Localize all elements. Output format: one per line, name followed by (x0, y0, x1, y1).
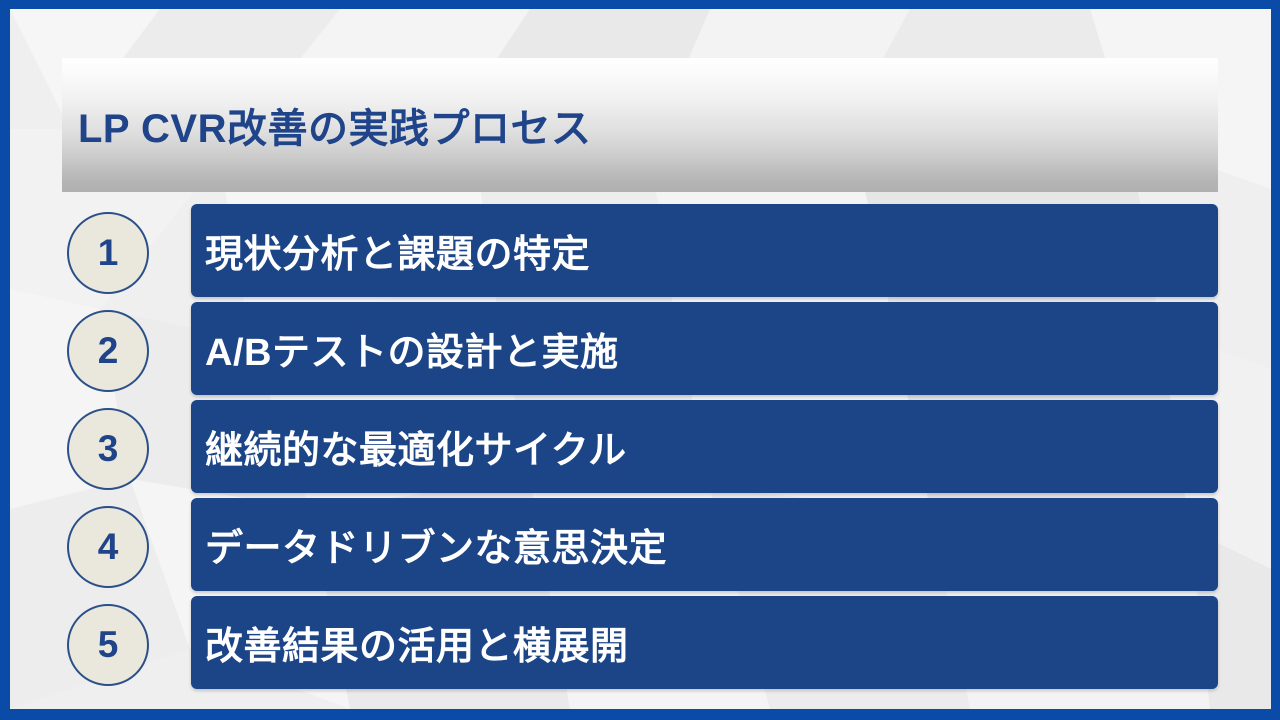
title-banner: LP CVR改善の実践プロセス (62, 58, 1218, 192)
step-number-4: 4 (98, 528, 119, 565)
step-number-badge-5: 5 (67, 604, 149, 686)
process-step-list: 1 現状分析と課題の特定 2 A/Bテストの設計と実施 3 (10, 204, 1271, 694)
step-label-1: 現状分析と課題の特定 (205, 223, 590, 278)
process-step-2[interactable]: 2 A/Bテストの設計と実施 (10, 302, 1271, 399)
step-number-badge-3: 3 (67, 408, 149, 490)
step-number-5: 5 (98, 626, 119, 663)
process-step-4[interactable]: 4 データドリブンな意思決定 (10, 498, 1271, 595)
process-step-1[interactable]: 1 現状分析と課題の特定 (10, 204, 1271, 301)
step-bar-1[interactable]: 現状分析と課題の特定 (191, 204, 1218, 297)
page-title: LP CVR改善の実践プロセス (78, 96, 591, 154)
step-number-2: 2 (98, 332, 119, 369)
step-label-5: 改善結果の活用と横展開 (205, 615, 629, 670)
step-bar-3[interactable]: 継続的な最適化サイクル (191, 400, 1218, 493)
step-label-4: データドリブンな意思決定 (205, 517, 667, 572)
process-step-3[interactable]: 3 継続的な最適化サイクル (10, 400, 1271, 497)
step-label-2: A/Bテストの設計と実施 (205, 321, 618, 376)
step-number-badge-4: 4 (67, 506, 149, 588)
step-number-badge-1: 1 (67, 212, 149, 294)
step-bar-4[interactable]: データドリブンな意思決定 (191, 498, 1218, 591)
step-number-1: 1 (98, 234, 119, 271)
process-step-5[interactable]: 5 改善結果の活用と横展開 (10, 596, 1271, 693)
step-bar-5[interactable]: 改善結果の活用と横展開 (191, 596, 1218, 689)
slide-canvas: LP CVR改善の実践プロセス 1 現状分析と課題の特定 2 A/Bテストの設計… (10, 9, 1271, 709)
step-number-3: 3 (98, 430, 119, 467)
step-number-badge-2: 2 (67, 310, 149, 392)
step-label-3: 継続的な最適化サイクル (205, 419, 627, 474)
slide-root: LP CVR改善の実践プロセス 1 現状分析と課題の特定 2 A/Bテストの設計… (0, 0, 1280, 720)
step-bar-2[interactable]: A/Bテストの設計と実施 (191, 302, 1218, 395)
